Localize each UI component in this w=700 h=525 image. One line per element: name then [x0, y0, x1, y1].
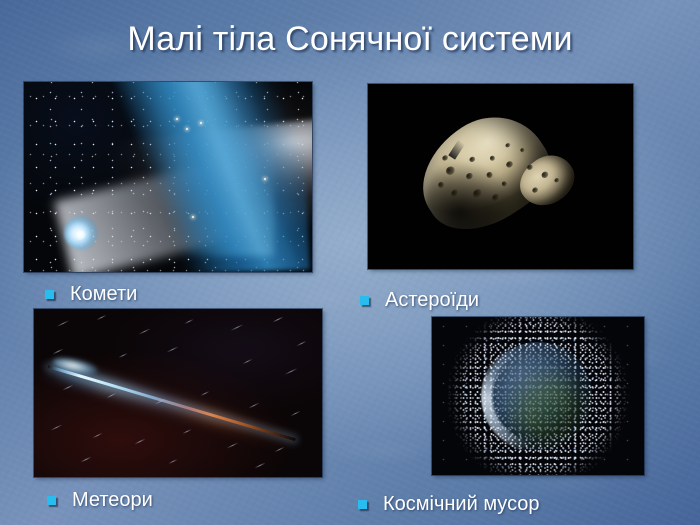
square-bullet-icon [358, 500, 367, 509]
comet-photo [24, 82, 312, 272]
caption-label-asteroid: Астероїди [385, 288, 479, 312]
square-bullet-icon [45, 290, 54, 299]
caption-label-debris: Космічний мусор [383, 492, 540, 516]
slide: Малі тіла Сонячної системи [0, 0, 700, 525]
comet-nucleus [74, 229, 86, 240]
square-bullet-icon [360, 296, 369, 305]
square-bullet-icon [47, 496, 56, 505]
caption-label-meteor: Метеори [72, 488, 153, 512]
caption-label-comet: Комети [70, 282, 137, 306]
meteor-photo [34, 309, 322, 477]
meteor-star-trails [34, 309, 322, 477]
page-title: Малі тіла Сонячної системи [0, 19, 700, 59]
list-item: Метеори [47, 488, 153, 512]
space-debris-photo [432, 317, 644, 475]
list-item: Комети [45, 282, 137, 306]
asteroid-photo [368, 84, 633, 269]
debris-cloud [432, 317, 644, 475]
list-item: Космічний мусор [358, 492, 540, 516]
list-item: Астероїди [360, 288, 479, 312]
